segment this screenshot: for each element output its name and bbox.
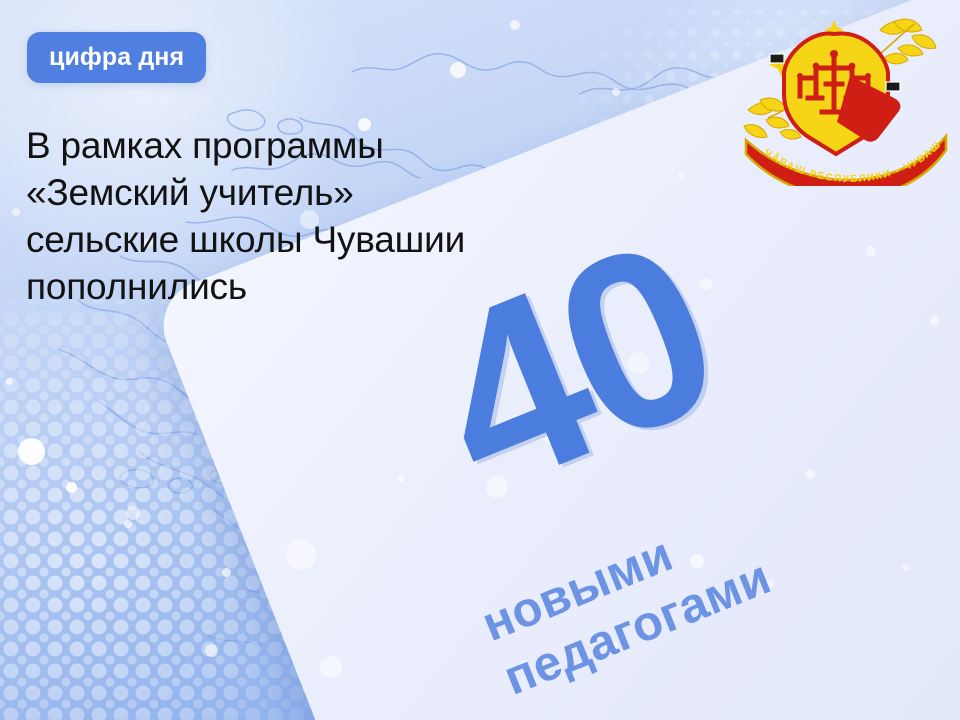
headline-line-2: «Земский учитель» [26,169,646,216]
coat-of-arms-icon: ЧӐВАШ РЕСПУБЛИКИ • ЧУВАШСКАЯ [730,14,948,186]
headline-line-1: В рамках программы [26,122,646,169]
poster-canvas: ЧӐВАШ РЕСПУБЛИКИ • ЧУВАШСКАЯ цифра дня В… [0,0,960,720]
category-badge[interactable]: цифра дня [27,32,206,83]
